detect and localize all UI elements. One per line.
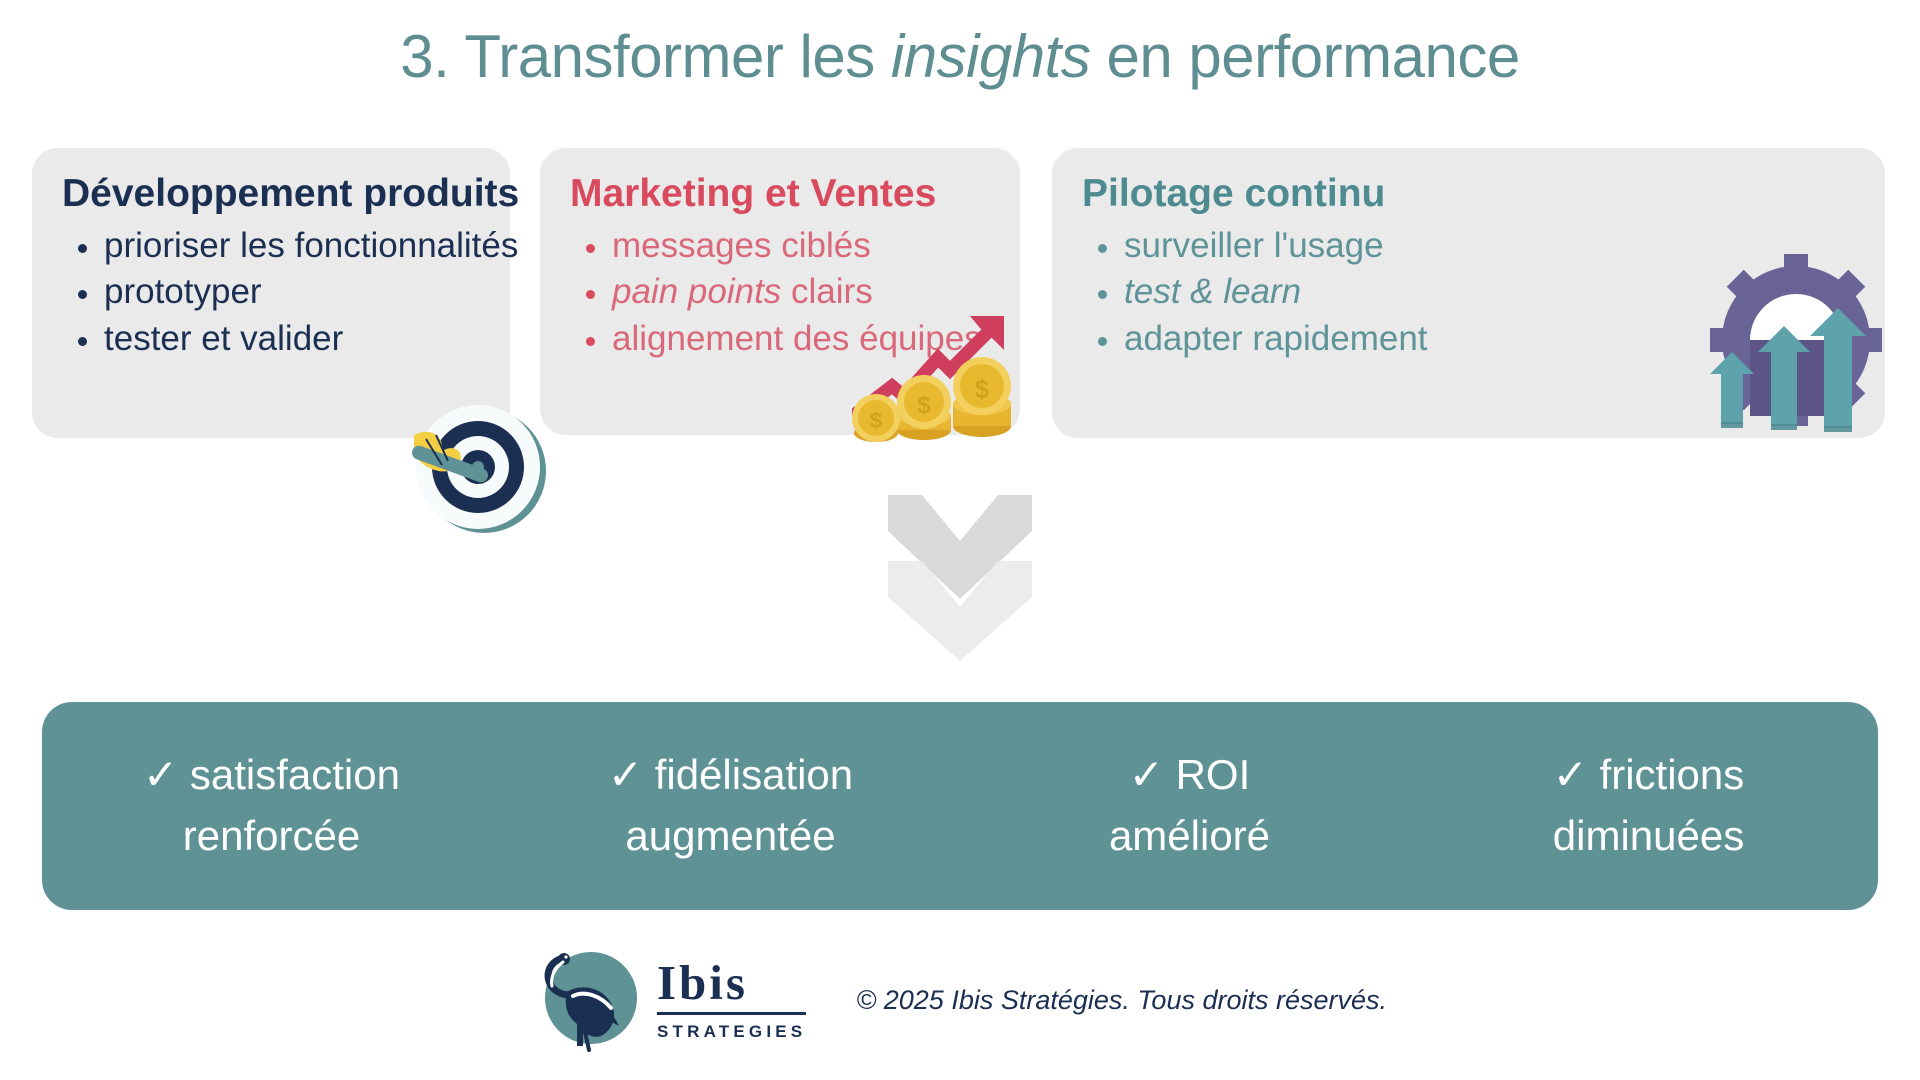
bullet-dot-icon bbox=[1098, 337, 1107, 346]
bullet-dot-icon bbox=[78, 337, 87, 346]
bullet-dot-icon bbox=[586, 290, 595, 299]
result-line-1: ✓ satisfaction bbox=[143, 751, 400, 798]
bullet-dot-icon bbox=[586, 244, 595, 253]
list-item-label-italic: pain points bbox=[612, 272, 781, 311]
page-title: 3. Transformer les insights en performan… bbox=[0, 22, 1920, 91]
list-item-label: surveiller l'usage bbox=[1124, 226, 1384, 265]
list-item: test & learn bbox=[1082, 269, 1855, 316]
ibis-bird-logo-icon bbox=[533, 946, 643, 1054]
results-banner: ✓ satisfaction renforcée ✓ fidélisation … bbox=[42, 702, 1878, 910]
result-item-fidelisation: ✓ fidélisation augmentée bbox=[501, 745, 960, 867]
result-item-frictions: ✓ frictions diminuées bbox=[1419, 745, 1878, 867]
bullet-dot-icon bbox=[78, 290, 87, 299]
card-pilotage-continu: Pilotage continu surveiller l'usage test… bbox=[1052, 148, 1885, 438]
list-item: prioriser les fonctionnalités bbox=[62, 223, 480, 270]
list-item-label: clairs bbox=[781, 272, 872, 311]
card-list: prioriser les fonctionnalités prototyper… bbox=[62, 223, 480, 363]
card-title: Pilotage continu bbox=[1082, 174, 1855, 215]
list-item-label: prioriser les fonctionnalités bbox=[104, 226, 518, 265]
result-line-2: amélioré bbox=[970, 806, 1409, 867]
list-item-label: tester et valider bbox=[104, 319, 343, 358]
slide-root: 3. Transformer les insights en performan… bbox=[0, 0, 1920, 1080]
card-list: surveiller l'usage test & learn adapter … bbox=[1082, 223, 1855, 363]
brand-name: Ibis bbox=[657, 958, 806, 1012]
card-title: Développement produits bbox=[62, 174, 480, 215]
title-emphasis: insights bbox=[891, 23, 1090, 90]
bullet-dot-icon bbox=[78, 244, 87, 253]
list-item: pain points clairs bbox=[570, 269, 990, 316]
list-item: surveiller l'usage bbox=[1082, 223, 1855, 270]
card-developpement-produits: Développement produits prioriser les fon… bbox=[32, 148, 510, 438]
card-list: messages ciblés pain points clairs align… bbox=[570, 223, 990, 363]
title-suffix: en performance bbox=[1090, 23, 1519, 90]
title-prefix: 3. Transformer les bbox=[400, 23, 891, 90]
result-line-1: ✓ fidélisation bbox=[608, 751, 853, 798]
brand-logo: Ibis STRATEGIES bbox=[533, 946, 806, 1054]
result-item-roi: ✓ ROI amélioré bbox=[960, 745, 1419, 867]
brand-wordmark: Ibis STRATEGIES bbox=[657, 958, 806, 1042]
footer: Ibis STRATEGIES © 2025 Ibis Stratégies. … bbox=[0, 940, 1920, 1060]
result-line-2: renforcée bbox=[52, 806, 491, 867]
result-line-2: augmentée bbox=[511, 806, 950, 867]
list-item: tester et valider bbox=[62, 316, 480, 363]
list-item-label: prototyper bbox=[104, 272, 262, 311]
card-title: Marketing et Ventes bbox=[570, 174, 990, 215]
list-item-label: messages ciblés bbox=[612, 226, 871, 265]
list-item-label: alignement des équipes bbox=[612, 319, 982, 358]
card-marketing-et-ventes: Marketing et Ventes messages ciblés pain… bbox=[540, 148, 1020, 435]
bullet-dot-icon bbox=[1098, 244, 1107, 253]
list-item-label: test & learn bbox=[1124, 272, 1301, 311]
double-chevron-down-icon bbox=[880, 485, 1040, 665]
result-item-satisfaction: ✓ satisfaction renforcée bbox=[42, 745, 501, 867]
bullet-dot-icon bbox=[586, 337, 595, 346]
list-item: prototyper bbox=[62, 269, 480, 316]
bullet-dot-icon bbox=[1098, 290, 1107, 299]
list-item: messages ciblés bbox=[570, 223, 990, 270]
list-item: adapter rapidement bbox=[1082, 316, 1855, 363]
copyright-text: © 2025 Ibis Stratégies. Tous droits rése… bbox=[856, 985, 1387, 1016]
brand-tagline: STRATEGIES bbox=[657, 1015, 806, 1042]
list-item: alignement des équipes bbox=[570, 316, 990, 363]
list-item-label: adapter rapidement bbox=[1124, 319, 1428, 358]
result-line-2: diminuées bbox=[1429, 806, 1868, 867]
result-line-1: ✓ frictions bbox=[1553, 751, 1745, 798]
result-line-1: ✓ ROI bbox=[1129, 751, 1251, 798]
cards-row: Développement produits prioriser les fon… bbox=[0, 148, 1920, 448]
